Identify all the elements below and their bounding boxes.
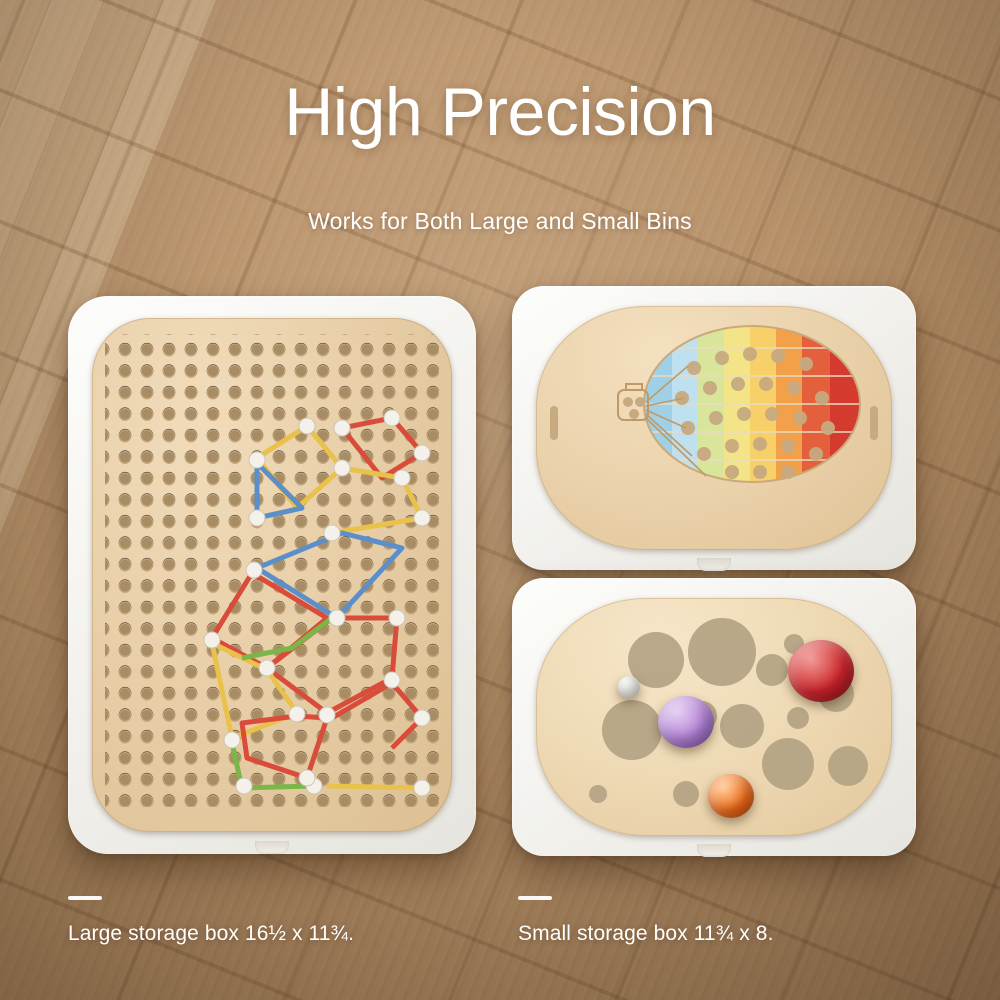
balloon-board-panel bbox=[536, 306, 892, 550]
caption-rule-right bbox=[518, 896, 552, 900]
large-storage-tray bbox=[68, 296, 476, 854]
small-storage-tray-top bbox=[512, 286, 916, 570]
tray-notch-large bbox=[255, 841, 289, 854]
pompom-red bbox=[788, 640, 854, 702]
pegboard-holes-and-bands bbox=[92, 318, 452, 832]
pompom-orange bbox=[708, 774, 754, 818]
caption-large-box: Large storage box 16½ x 11¾. bbox=[68, 922, 354, 946]
pegboard-panel bbox=[92, 318, 452, 832]
small-storage-tray-bottom bbox=[512, 578, 916, 856]
caption-small-box: Small storage box 11¾ x 8. bbox=[518, 922, 774, 946]
tray-notch-top bbox=[697, 558, 731, 571]
tray-notch-bottom bbox=[697, 844, 731, 857]
product-lifestyle-image: High Precision Works for Both Large and … bbox=[0, 0, 1000, 1000]
headline-title: High Precision bbox=[0, 78, 1000, 146]
pompom-purple bbox=[658, 696, 714, 748]
caption-rule-left bbox=[68, 896, 102, 900]
headline-subtitle: Works for Both Large and Small Bins bbox=[0, 208, 1000, 235]
hot-air-balloon-illustration bbox=[536, 306, 892, 550]
white-bead bbox=[618, 676, 640, 698]
